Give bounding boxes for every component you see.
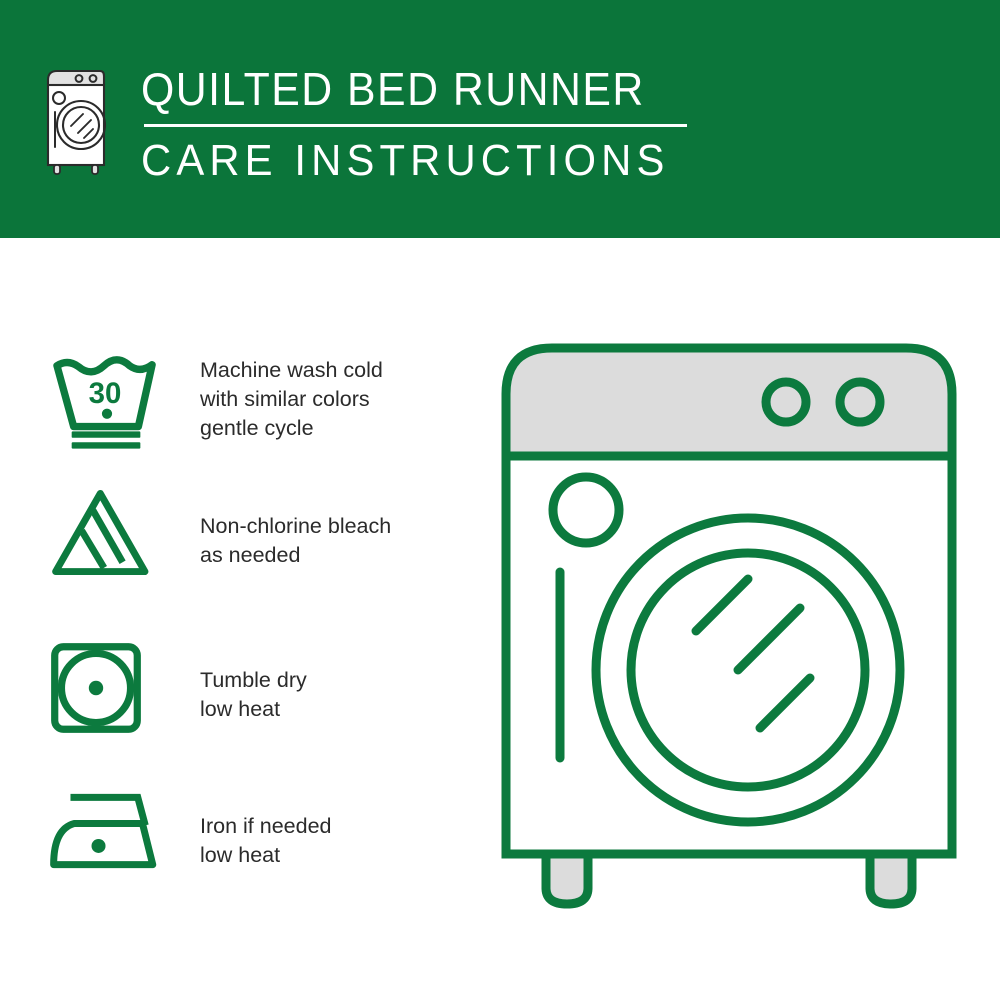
page-subtitle: CARE INSTRUCTIONS [141, 136, 673, 186]
care-instructions-list: 30 Machine wash cold with similar colors… [0, 238, 470, 1000]
machine-leg-left [546, 854, 588, 904]
care-instructions-page: QUILTED BED RUNNER CARE INSTRUCTIONS 30 [0, 0, 1000, 1000]
care-item-label: Machine wash cold with similar colors ge… [200, 350, 383, 443]
iron-low-heat-icon [48, 788, 168, 879]
header-banner: QUILTED BED RUNNER CARE INSTRUCTIONS [0, 0, 1000, 238]
machine-leg-right [870, 854, 912, 904]
wash-basin-30-gentle-icon: 30 [48, 350, 168, 458]
care-item-bleach: Non-chlorine bleach as needed [48, 486, 448, 584]
tumble-dry-low-heat-icon [48, 640, 168, 741]
care-item-label: Iron if needed low heat [200, 788, 332, 870]
washing-machine-illustration [498, 340, 960, 920]
title-block: QUILTED BED RUNNER CARE INSTRUCTIONS [141, 62, 701, 186]
care-item-tumble-dry: Tumble dry low heat [48, 640, 448, 741]
wash-temperature-label: 30 [89, 377, 122, 410]
product-title: QUILTED BED RUNNER [141, 62, 662, 116]
care-item-machine-wash: 30 Machine wash cold with similar colors… [48, 350, 448, 458]
care-item-label: Tumble dry low heat [200, 640, 307, 724]
washing-machine-logo-icon [44, 63, 108, 178]
title-divider-rule [144, 124, 687, 127]
control-panel [506, 348, 952, 456]
care-item-iron: Iron if needed low heat [48, 788, 448, 879]
care-item-label: Non-chlorine bleach as needed [200, 486, 391, 570]
non-chlorine-bleach-triangle-icon [48, 486, 168, 584]
